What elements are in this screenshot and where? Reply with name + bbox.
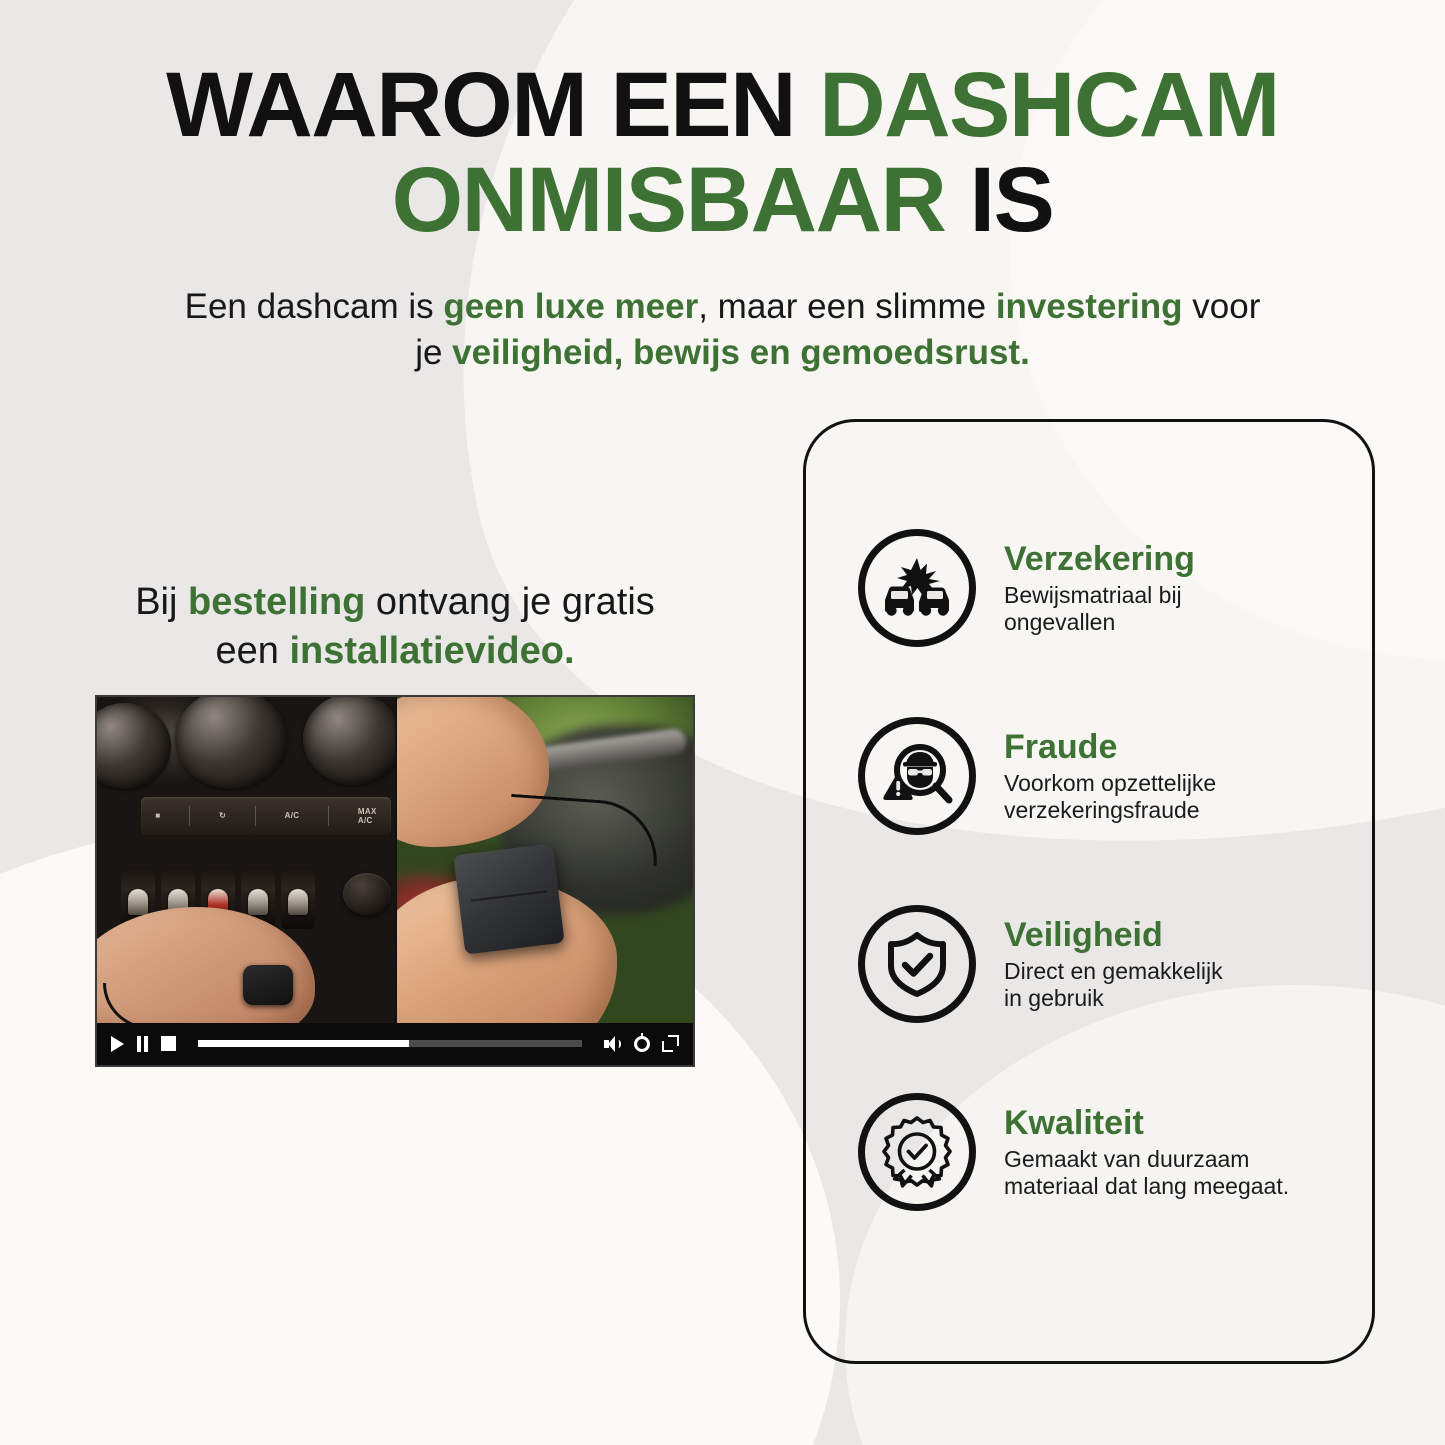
feature-item-verzekering: Verzekering Bewijsmatriaal bij ongevalle… (806, 494, 1372, 682)
pause-button[interactable] (136, 1036, 149, 1052)
feature-description: Direct en gemakkelijk in gebruik (1004, 958, 1342, 1010)
feature-description: Voorkom opzettelijke verzekeringsfraude (1004, 770, 1342, 822)
dashcam-device (453, 843, 564, 954)
ac-label-recirc: ↻ (219, 811, 226, 820)
subtitle-seg-1: Een dashcam is (185, 287, 444, 326)
fraud-magnifier-icon (879, 738, 955, 814)
feature-item-fraude: Fraude Voorkom opzettelijke verzekerings… (806, 682, 1372, 870)
title-part-black-2: IS (969, 149, 1053, 251)
subtitle-seg-2: geen luxe meer (443, 287, 698, 326)
video-caption-seg-1: Bij (135, 581, 188, 623)
video-controls-bar[interactable] (97, 1023, 693, 1065)
feature-item-kwaliteit: Kwaliteit Gemaakt van duurzaam materiaal… (806, 1058, 1372, 1246)
subtitle-seg-3: , maar een slimme (698, 287, 996, 326)
subtitle-seg-4: investering (996, 287, 1183, 326)
page-title: WAAROM EEN DASHCAM ONMISBAAR IS (0, 58, 1445, 248)
car-crash-icon (879, 550, 955, 626)
feature-title: Fraude (1004, 729, 1342, 765)
video-stage[interactable]: ■ ↻ A/C MAXA/C (97, 697, 693, 1023)
header: WAAROM EEN DASHCAM ONMISBAAR IS Een dash… (0, 58, 1445, 376)
feature-icon-circle (858, 1093, 976, 1211)
ac-label-defrost: ■ (155, 811, 160, 820)
pause-icon (136, 1036, 149, 1052)
progress-fill (198, 1040, 409, 1047)
feature-icon-circle (858, 529, 976, 647)
shield-check-icon (879, 926, 955, 1002)
fullscreen-icon (662, 1035, 679, 1052)
feature-item-veiligheid: Veiligheid Direct en gemakkelijk in gebr… (806, 870, 1372, 1058)
infographic-page: WAAROM EEN DASHCAM ONMISBAAR IS Een dash… (0, 0, 1445, 1445)
video-caption-seg-4: installatievideo. (289, 630, 574, 672)
feature-description: Bewijsmatriaal bij ongevallen (1004, 582, 1342, 634)
feature-title: Verzekering (1004, 541, 1342, 577)
toggle-switch (281, 867, 315, 929)
dashboard-vent-icon (97, 703, 171, 789)
ac-divider (189, 806, 190, 826)
ac-divider (328, 806, 329, 826)
ac-label-ac: A/C (285, 811, 300, 820)
volume-button[interactable] (604, 1036, 622, 1052)
feature-icon-circle (858, 905, 976, 1023)
feature-title: Veiligheid (1004, 917, 1342, 953)
title-part-black-1: WAAROM EEN (166, 54, 819, 156)
ac-control-strip: ■ ↻ A/C MAXA/C (141, 797, 391, 835)
video-caption: Bij bestelling ontvang je gratis een ins… (95, 578, 695, 677)
feature-text: Fraude Voorkom opzettelijke verzekerings… (1004, 729, 1342, 822)
power-cable (103, 983, 253, 1023)
feature-description: Gemaakt van duurzaam materiaal dat lang … (1004, 1146, 1342, 1198)
ac-label-max-ac: MAXA/C (358, 807, 377, 825)
dashboard-knob (343, 873, 391, 915)
subtitle-seg-6: veiligheid, bewijs en gemoedsrust. (452, 333, 1030, 372)
feature-title: Kwaliteit (1004, 1105, 1342, 1141)
gear-icon (634, 1036, 650, 1052)
feature-text: Verzekering Bewijsmatriaal bij ongevalle… (1004, 541, 1342, 634)
feature-text: Kwaliteit Gemaakt van duurzaam materiaal… (1004, 1105, 1342, 1198)
dashboard-vent-icon (175, 697, 287, 789)
video-section: Bij bestelling ontvang je gratis een ins… (95, 578, 695, 1067)
play-icon (111, 1036, 124, 1052)
features-card: Verzekering Bewijsmatriaal bij ongevalle… (803, 419, 1375, 1364)
stop-icon (161, 1036, 176, 1051)
video-pane-dashboard: ■ ↻ A/C MAXA/C (97, 697, 395, 1023)
volume-icon (604, 1036, 622, 1052)
fullscreen-button[interactable] (662, 1035, 679, 1052)
dashboard-vent-icon (303, 697, 395, 785)
play-button[interactable] (111, 1036, 124, 1052)
progress-bar[interactable] (198, 1040, 582, 1047)
video-pane-device (395, 697, 693, 1023)
feature-icon-circle (858, 717, 976, 835)
power-plug (243, 965, 293, 1005)
settings-button[interactable] (634, 1036, 650, 1052)
stop-button[interactable] (161, 1036, 176, 1051)
video-caption-seg-2: bestelling (188, 581, 365, 623)
page-subtitle: Een dashcam is geen luxe meer, maar een … (0, 284, 1445, 376)
award-badge-icon (879, 1114, 955, 1190)
feature-text: Veiligheid Direct en gemakkelijk in gebr… (1004, 917, 1342, 1010)
ac-divider (255, 806, 256, 826)
video-player[interactable]: ■ ↻ A/C MAXA/C (95, 695, 695, 1067)
